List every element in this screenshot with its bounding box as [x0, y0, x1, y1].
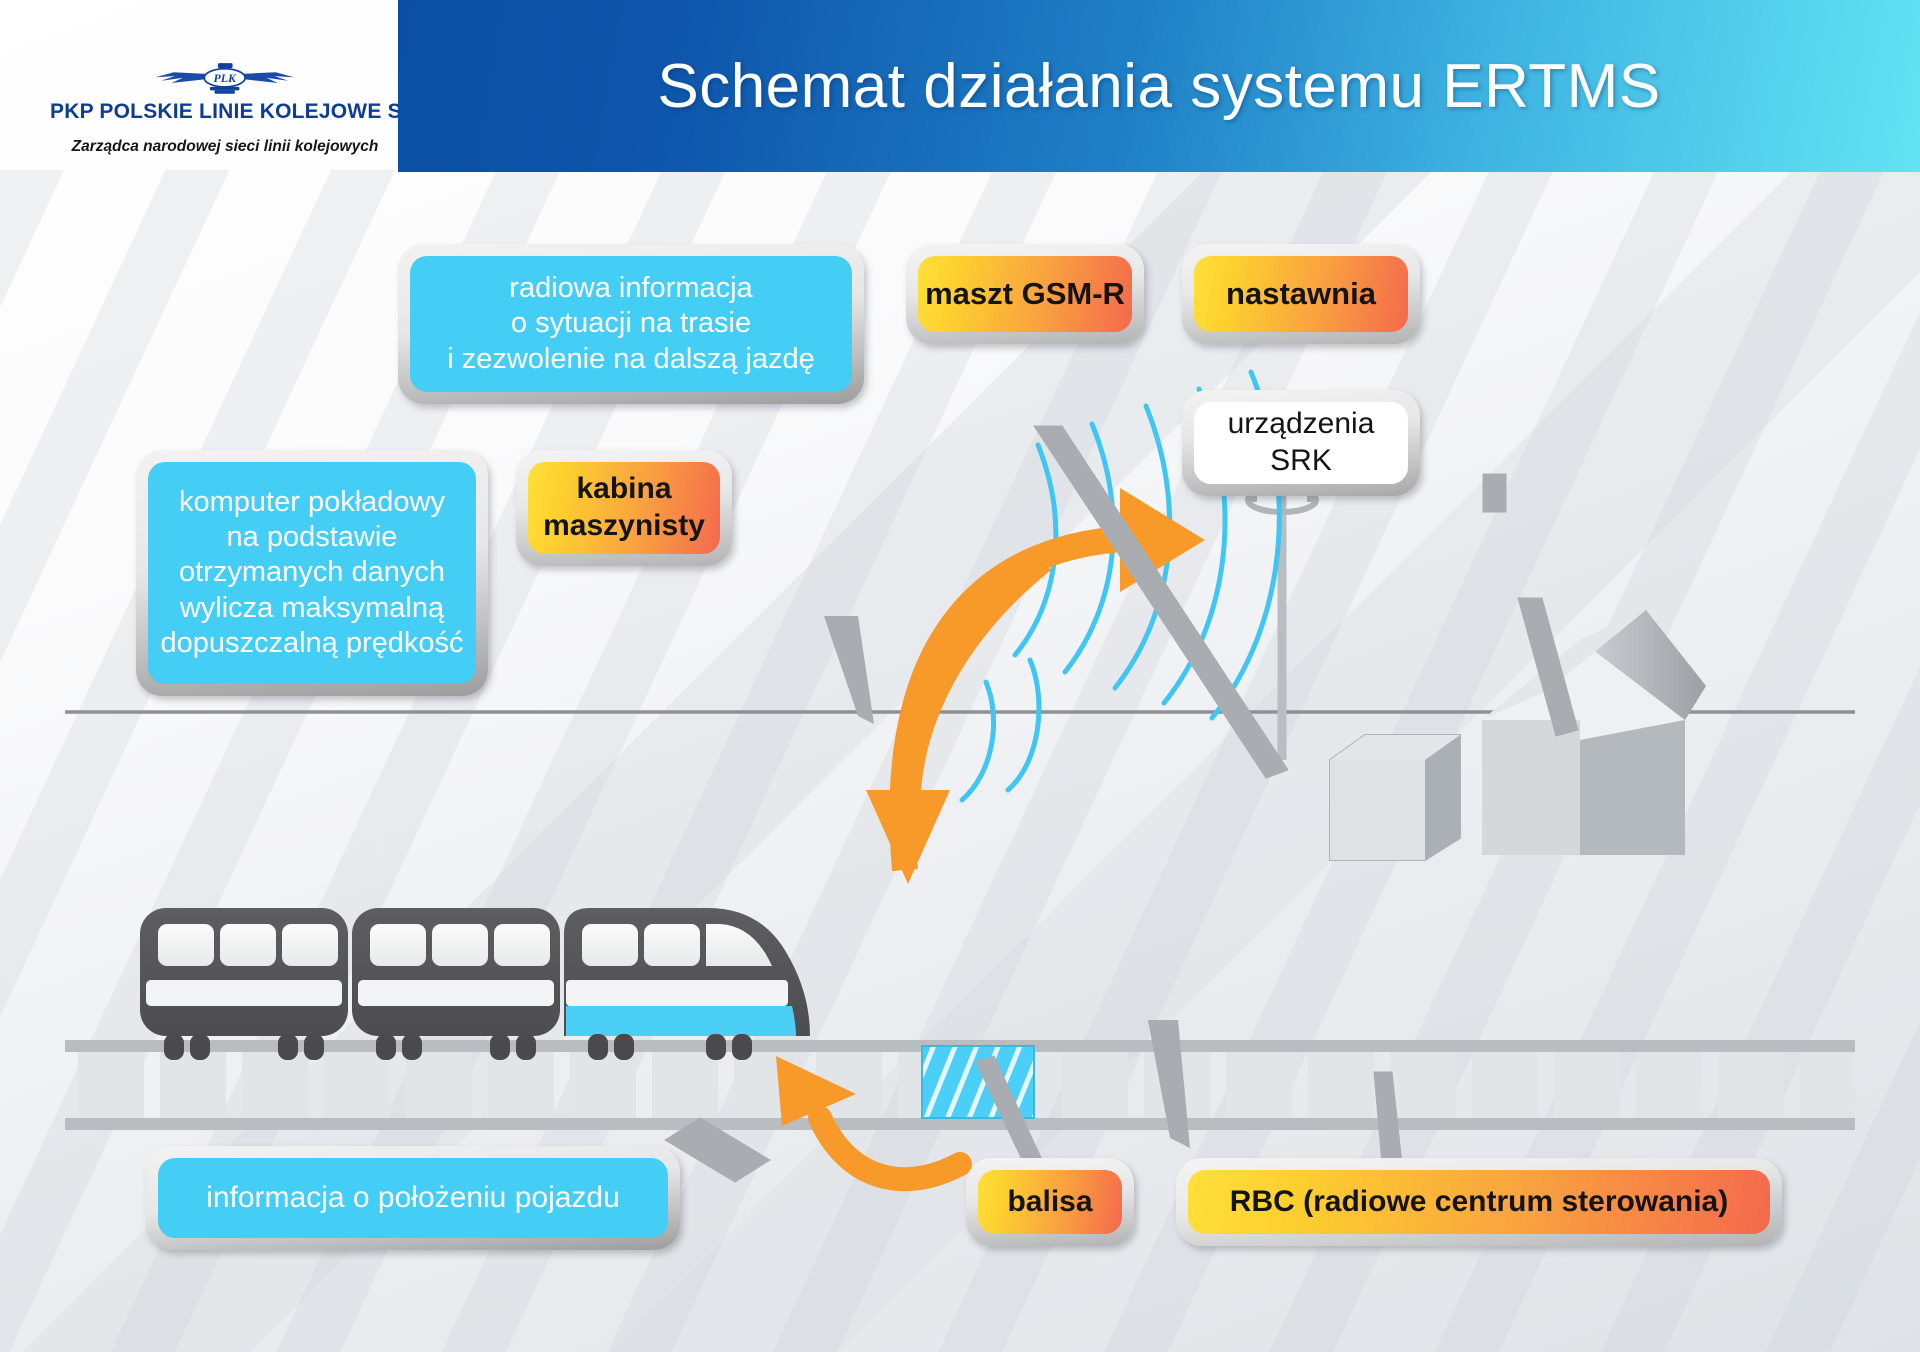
callout-body: RBC (radiowe centrum sterowania) — [1188, 1170, 1770, 1234]
callout-informacja-polozenie[interactable]: informacja o położeniu pojazdu — [146, 1146, 680, 1250]
callout-line: komputer pokładowy — [160, 485, 463, 520]
callout-frame: kabina maszynisty — [516, 450, 732, 566]
locomotive — [564, 908, 810, 1060]
callout-maszt-gsmr[interactable]: maszt GSM-R — [906, 244, 1144, 344]
callout-line: otrzymanych danych — [160, 555, 463, 590]
station-building-icon — [1482, 610, 1706, 855]
callout-line: informacja o położeniu pojazdu — [206, 1180, 620, 1217]
relay-cabinet-icon — [1330, 735, 1460, 860]
callout-balisa[interactable]: balisa — [966, 1158, 1134, 1246]
callout-line: o sytuacji na trasie — [447, 306, 815, 341]
callout-line: wylicza maksymalną — [160, 591, 463, 626]
callout-kabina-maszynisty[interactable]: kabina maszynisty — [516, 450, 732, 566]
callout-body: kabina maszynisty — [528, 462, 720, 554]
callout-line: i zezwolenie na dalszą jazdę — [447, 342, 815, 377]
callout-frame: balisa — [966, 1158, 1134, 1246]
callout-body: radiowa informacja o sytuacji na trasie … — [410, 256, 852, 392]
callout-radiowa[interactable]: radiowa informacja o sytuacji na trasie … — [398, 244, 864, 404]
callout-frame: RBC (radiowe centrum sterowania) — [1176, 1158, 1782, 1246]
callout-body: komputer pokładowy na podstawie otrzyman… — [148, 462, 476, 684]
callout-rbc[interactable]: RBC (radiowe centrum sterowania) — [1176, 1158, 1782, 1246]
callout-line: RBC (radiowe centrum sterowania) — [1230, 1184, 1728, 1221]
train-car-2 — [352, 908, 560, 1060]
callout-body: informacja o położeniu pojazdu — [158, 1158, 668, 1238]
callout-line: maszynisty — [543, 508, 705, 545]
callout-line: radiowa informacja — [447, 271, 815, 306]
railway-track — [65, 1040, 1855, 1130]
callout-line: kabina — [543, 471, 705, 508]
callout-frame: maszt GSM-R — [906, 244, 1144, 344]
train-car-1 — [140, 908, 348, 1060]
callout-frame: nastawnia — [1182, 244, 1420, 344]
callout-urzadzenia-srk[interactable]: urządzenia SRK — [1182, 390, 1420, 496]
callout-komputer-pokladowy[interactable]: komputer pokładowy na podstawie otrzyman… — [136, 450, 488, 696]
callout-nastawnia[interactable]: nastawnia — [1182, 244, 1420, 344]
callout-line: maszt GSM-R — [925, 275, 1125, 313]
callout-line: nastawnia — [1226, 275, 1376, 313]
callout-line: balisa — [1007, 1184, 1092, 1221]
callout-frame: komputer pokładowy na podstawie otrzyman… — [136, 450, 488, 696]
callout-body: urządzenia SRK — [1194, 402, 1408, 484]
callout-body: maszt GSM-R — [918, 256, 1132, 332]
callout-line: dopuszczalną prędkość — [160, 626, 463, 661]
callout-tail-radiowa — [818, 616, 888, 726]
callout-line: SRK — [1228, 443, 1375, 480]
callout-tail-kabina — [1144, 1020, 1234, 1150]
callout-line: urządzenia — [1228, 406, 1375, 443]
callout-frame: informacja o położeniu pojazdu — [146, 1146, 680, 1250]
callout-frame: urządzenia SRK — [1182, 390, 1420, 496]
leader-nastawnia — [1483, 474, 1506, 512]
callout-body: balisa — [978, 1170, 1122, 1234]
arrow-head-train-icon — [866, 790, 950, 884]
callout-body: nastawnia — [1194, 256, 1408, 332]
callout-frame: radiowa informacja o sytuacji na trasie … — [398, 244, 864, 404]
callout-line: na podstawie — [160, 520, 463, 555]
